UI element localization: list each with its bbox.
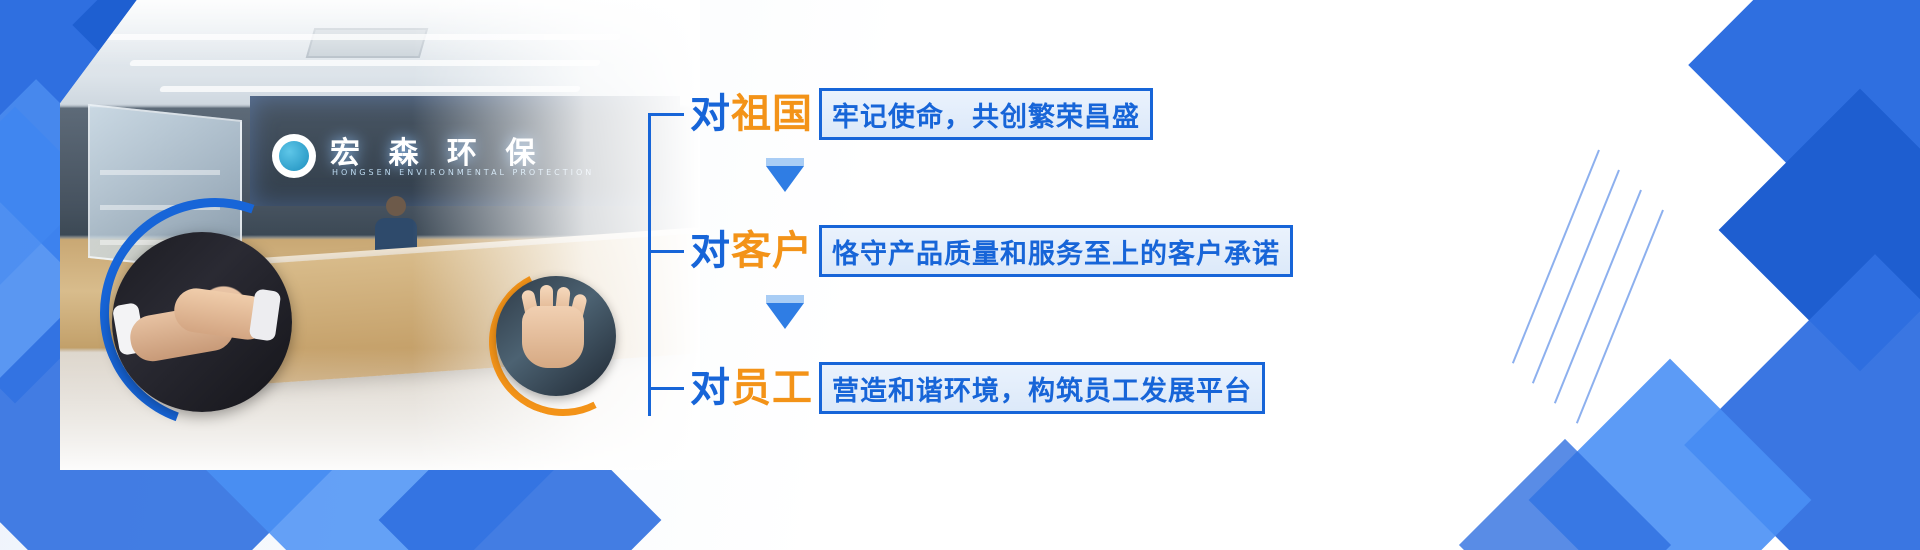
- value-row-country: 对祖国 牢记使命，共创繁荣昌盛: [648, 86, 1153, 142]
- value-kicker-customer: 对客户: [690, 231, 813, 271]
- kicker-prefix-3: 对: [690, 365, 731, 411]
- row-tick-3: [648, 387, 684, 390]
- kicker-highlight-1: 祖国: [731, 91, 813, 137]
- value-kicker-country: 对祖国: [690, 94, 813, 134]
- row-tick-1: [648, 113, 684, 116]
- company-values-banner: 宏 森 环 保 HONGSEN ENVIRONMENTAL PROTECTION: [0, 0, 1920, 550]
- kicker-highlight-2: 客户: [731, 228, 813, 274]
- down-arrow-1-icon: [766, 166, 804, 192]
- palm: [522, 306, 584, 368]
- kicker-prefix-1: 对: [690, 91, 731, 137]
- values-content: 对祖国 牢记使命，共创繁荣昌盛 对客户 恪守产品质量和服务至上的客户承诺 对员工…: [648, 78, 1368, 448]
- down-arrow-1-cap: [766, 158, 804, 166]
- value-statement-country: 牢记使命，共创繁荣昌盛: [819, 88, 1153, 140]
- value-statement-customer: 恪守产品质量和服务至上的客户承诺: [819, 225, 1293, 277]
- kicker-prefix-2: 对: [690, 228, 731, 274]
- kicker-highlight-3: 员工: [731, 365, 813, 411]
- down-arrow-2-icon: [766, 303, 804, 329]
- value-row-customer: 对客户 恪守产品质量和服务至上的客户承诺: [648, 223, 1293, 279]
- down-arrow-2-cap: [766, 295, 804, 303]
- value-kicker-employee: 对员工: [690, 368, 813, 408]
- row-tick-2: [648, 250, 684, 253]
- value-statement-employee: 营造和谐环境，构筑员工发展平台: [819, 362, 1265, 414]
- value-row-employee: 对员工 营造和谐环境，构筑员工发展平台: [648, 360, 1265, 416]
- handshake-photo-secondary: [496, 276, 616, 396]
- shirt-cuff-right: [249, 288, 282, 341]
- handshake-photo-primary: [112, 232, 292, 412]
